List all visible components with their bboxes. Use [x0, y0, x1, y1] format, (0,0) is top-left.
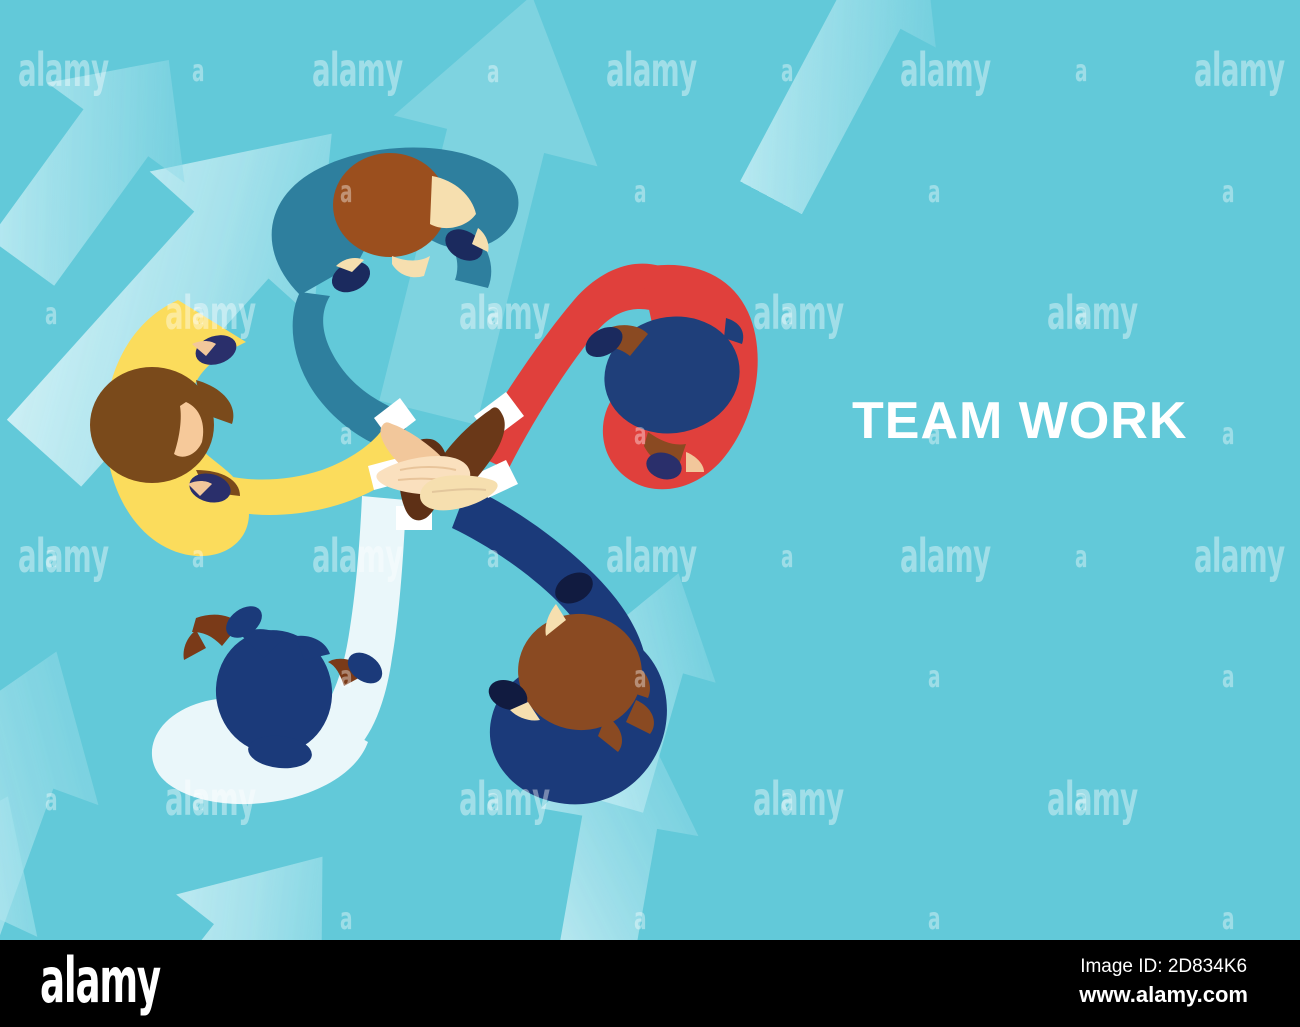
image-id-label: Image ID: 2D834K6	[1079, 954, 1248, 980]
alamy-logo: alamy	[40, 950, 160, 1012]
website-url: www.alamy.com	[1079, 980, 1248, 1010]
teamwork-vector-illustration	[0, 0, 1300, 940]
page-title: TEAM WORK	[852, 395, 1187, 447]
illustration-canvas: TEAM WORK aaaaaaaaaaaaaaaaaaaaaaaaaaaaaa…	[0, 0, 1300, 940]
alamy-footer-bar: alamy Image ID: 2D834K6 www.alamy.com	[0, 940, 1300, 1027]
screenshot-root: TEAM WORK aaaaaaaaaaaaaaaaaaaaaaaaaaaaaa…	[0, 0, 1300, 1027]
footer-meta: Image ID: 2D834K6 www.alamy.com	[1079, 954, 1248, 1009]
figure-top-hair	[333, 153, 447, 257]
